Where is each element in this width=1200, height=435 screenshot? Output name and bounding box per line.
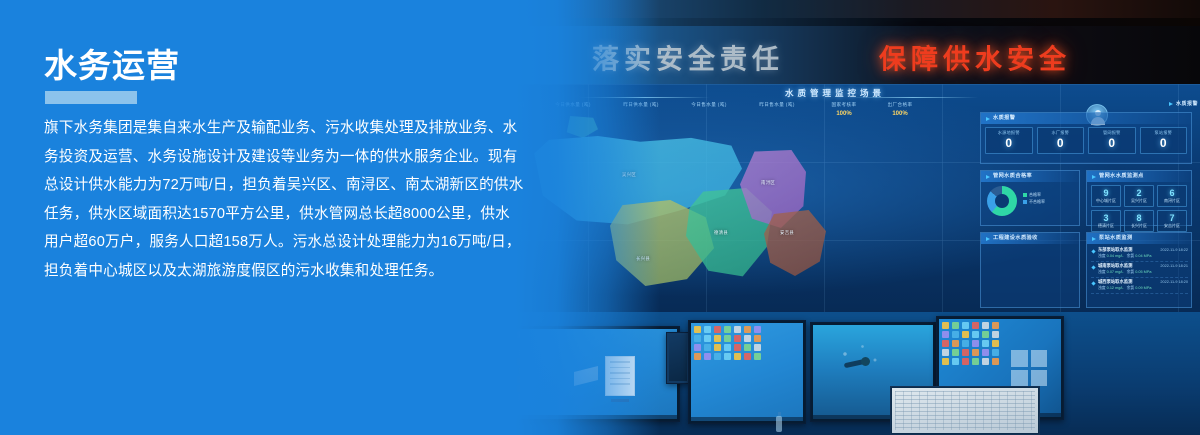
banner-slogan-right: 保障供水安全 [879,38,1071,77]
alarm-card-list: 水源地报警 0 水厂报警 0 管网报警 0 泵站报警 [985,127,1187,154]
log-row-list: 东部泵站取水监测 2022-11-9 18:22 浊度 0.04 mg/L 余氯… [1091,246,1188,294]
desktop-icon[interactable] [982,340,989,347]
desktop-icon[interactable] [982,331,989,338]
map-region-label: 安吉县 [780,230,794,236]
panel-monitoring-sites[interactable]: 管网水水质监测点 9 中心城片区 2 吴兴片区 6 南浔片区 [1086,170,1192,226]
panel-title: 水质报警 [981,113,1191,124]
desktop-icon[interactable] [704,344,711,351]
desktop-icon[interactable] [744,344,751,351]
desktop-icon[interactable] [962,340,969,347]
log-row[interactable]: 城西泵站取水监测 2022-11-9 18:20 浊度 0.12 mg/L 余氯… [1091,278,1188,294]
desktop-icon[interactable] [952,322,959,329]
site-cell[interactable]: 6 南浔片区 [1157,185,1187,207]
desktop-icon[interactable] [724,335,731,342]
map-region-label: 南浔区 [761,180,775,186]
desktop-icon[interactable] [992,331,999,338]
title-underline-rule [45,91,137,104]
desktop-icon[interactable] [744,335,751,342]
control-room-photo: 落实安全责任 保障供水安全 水质管理监控场景 总供水量 (万吨) 今日供 [470,0,1200,435]
desktop-icon[interactable] [724,326,731,333]
desktop-icon[interactable] [724,344,731,351]
desktop-icon[interactable] [992,358,999,365]
alarm-card[interactable]: 水厂报警 0 [1037,127,1085,154]
laptop-spreadsheet[interactable] [890,386,1040,435]
desktop-icon[interactable] [992,322,999,329]
site-cell[interactable]: 9 中心城片区 [1091,185,1121,207]
alarm-card[interactable]: 泵站报警 0 [1140,127,1188,154]
desktop-icon[interactable] [734,353,741,360]
desktop-icon[interactable] [734,344,741,351]
desktop-icon[interactable] [704,326,711,333]
desktop-icon[interactable] [942,322,949,329]
desktop-icon[interactable] [754,326,761,333]
panel-water-quality-alarm[interactable]: 水质报警 水源地报警 0 水厂报警 0 管网报警 0 [980,112,1192,164]
desktop-icon[interactable] [724,353,731,360]
legend-item: 合格率 [1023,191,1045,198]
panel-title: 工程建设水质验收 [981,233,1079,244]
site-cell[interactable]: 8 长兴片区 [1124,210,1154,232]
panel-construction-acceptance[interactable]: 工程建设水质验收 [980,232,1080,308]
site-cell[interactable]: 2 吴兴片区 [1124,185,1154,207]
desktop-icon[interactable] [754,353,761,360]
alarm-card[interactable]: 水源地报警 0 [985,127,1033,154]
photo-inner: 落实安全责任 保障供水安全 水质管理监控场景 总供水量 (万吨) 今日供 [470,0,1200,435]
desktop-icon[interactable] [714,326,721,333]
site-cell-grid: 9 中心城片区 2 吴兴片区 6 南浔片区 3 [1091,185,1187,232]
desktop-icon[interactable] [982,349,989,356]
map-region-label: 德清县 [714,230,728,236]
panel-title: 管网水水质监测点 [1087,171,1191,182]
desktop-icon[interactable] [962,322,969,329]
desktop-icon[interactable] [704,335,711,342]
desktop-icon[interactable] [694,353,701,360]
panel-title: 管网水质合格率 [981,171,1079,182]
monitor-windows-desktop-icons[interactable] [688,320,806,424]
water-bottle [776,416,782,432]
desktop-icon[interactable] [714,344,721,351]
desktop-icon[interactable] [754,344,761,351]
legend-item: 不合格率 [1023,198,1045,205]
desktop-icon[interactable] [694,344,701,351]
desktop-icon[interactable] [982,358,989,365]
windows-logo-icon [1011,350,1047,386]
desktop-icon[interactable] [694,335,701,342]
desktop-icon[interactable] [942,349,949,356]
dashboard-title-rule-right [848,97,978,98]
desktop-icon[interactable] [952,358,959,365]
site-cell[interactable]: 7 安吉片区 [1157,210,1187,232]
body-paragraph: 旗下水务集团是集自来水生产及输配业务、污水收集处理及排放业务、水 务投资及运营、… [44,114,574,285]
desktop-icon-grid [694,326,762,360]
desktop-icon[interactable] [704,353,711,360]
desktop-icon[interactable] [962,331,969,338]
desktop-icon[interactable] [962,349,969,356]
panel-title: 泵站水质监测 [1087,233,1191,244]
taskbar[interactable] [691,417,803,421]
site-cell[interactable]: 3 德清片区 [1091,210,1121,232]
pass-rate-donut [987,186,1017,216]
desktop-icon[interactable] [734,335,741,342]
desktop-icon[interactable] [992,340,999,347]
desktop-icon[interactable] [714,335,721,342]
desktop-icon[interactable] [952,349,959,356]
donut-legend: 合格率 不合格率 [1023,191,1045,205]
desktop-icon-grid [942,322,1000,365]
desktop-icon[interactable] [754,335,761,342]
desktop-icon[interactable] [972,349,979,356]
desktop-icon[interactable] [942,340,949,347]
alarm-card[interactable]: 管网报警 0 [1088,127,1136,154]
monitor-side-dark[interactable] [666,332,690,384]
desktop-icon[interactable] [744,326,751,333]
log-row[interactable]: 城南泵站取水监测 2022-11-9 18:21 浊度 0.07 mg/L 余氯… [1091,262,1188,278]
diver-photo [844,357,874,373]
screen [691,323,803,421]
map-region-anji [764,210,826,276]
desktop-icon[interactable] [942,331,949,338]
desktop-icon[interactable] [972,322,979,329]
screen [669,335,687,381]
log-row[interactable]: 东部泵站取水监测 2022-11-9 18:22 浊度 0.04 mg/L 余氯… [1091,246,1188,262]
panel-pumpstation-log[interactable]: 泵站水质监测 东部泵站取水监测 2022-11-9 18:22 浊度 0.04 … [1086,232,1192,308]
kpi-item: 出厂合格率 100% [874,102,926,117]
copy-block: 水务运营 旗下水务集团是集自来水生产及输配业务、污水收集处理及排放业务、水 务投… [44,46,574,285]
desktop-icon[interactable] [962,358,969,365]
desktop-icon[interactable] [714,353,721,360]
desktop-icon[interactable] [972,340,979,347]
desktop-icon[interactable] [972,331,979,338]
desktop-icon[interactable] [744,353,751,360]
desktop-icon[interactable] [992,349,999,356]
desktop-icon[interactable] [694,326,701,333]
donut-chart [987,186,1017,216]
desktop-icon[interactable] [952,340,959,347]
wall-corner-tag: 水质报警 [1176,100,1198,107]
desktop-icon[interactable] [952,331,959,338]
panel-pipeline-pass-rate[interactable]: 管网水质合格率 合格率 不合格率 [980,170,1080,226]
desktop-icon[interactable] [942,358,949,365]
screen [892,388,1038,433]
page-title: 水务运营 [44,46,574,86]
desktop-icon[interactable] [734,326,741,333]
desktop-icon[interactable] [972,358,979,365]
hero-banner: 落实安全责任 保障供水安全 水质管理监控场景 总供水量 (万吨) 今日供 [0,0,1200,435]
desktop-icon[interactable] [982,322,989,329]
